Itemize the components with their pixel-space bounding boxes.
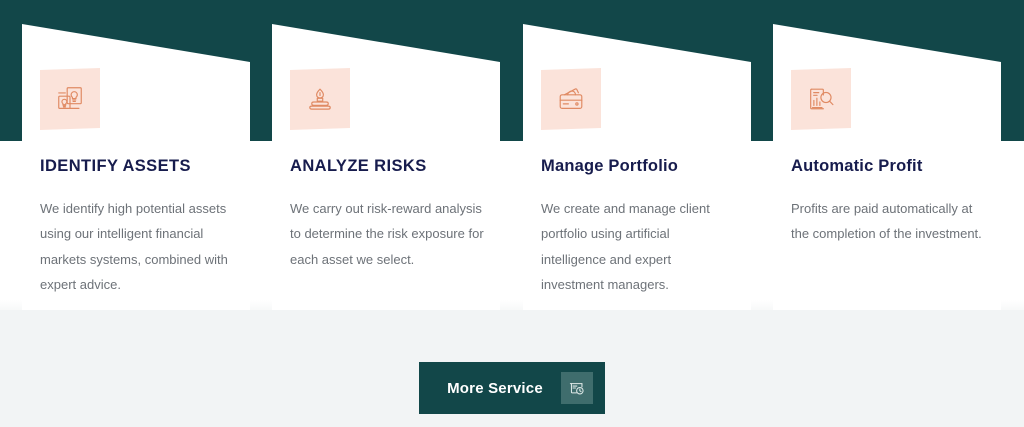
services-section: IDENTIFY ASSETS We identify high potenti…: [0, 0, 1024, 427]
chart-magnifier-icon: [791, 68, 851, 130]
more-service-button[interactable]: More Service: [419, 362, 605, 414]
service-card-description: We identify high potential assets using …: [40, 196, 234, 297]
assets-cards-lightbulb-icon: [40, 68, 100, 130]
service-card-title: ANALYZE RISKS: [290, 157, 490, 175]
service-card-description: Profits are paid automatically at the co…: [791, 196, 991, 247]
balance-scales-icon: [290, 68, 350, 130]
service-card-description: We create and manage client portfolio us…: [541, 196, 735, 297]
service-card-title: Automatic Profit: [791, 157, 991, 175]
cta-container: More Service: [0, 362, 1024, 414]
service-card-title: IDENTIFY ASSETS: [40, 157, 240, 175]
more-service-button-label: More Service: [447, 380, 547, 397]
wallet-icon: [541, 68, 601, 130]
service-card-description: We carry out risk-reward analysis to det…: [290, 196, 484, 272]
money-clock-icon: [561, 372, 593, 404]
service-card-title: Manage Portfolio: [541, 157, 741, 175]
